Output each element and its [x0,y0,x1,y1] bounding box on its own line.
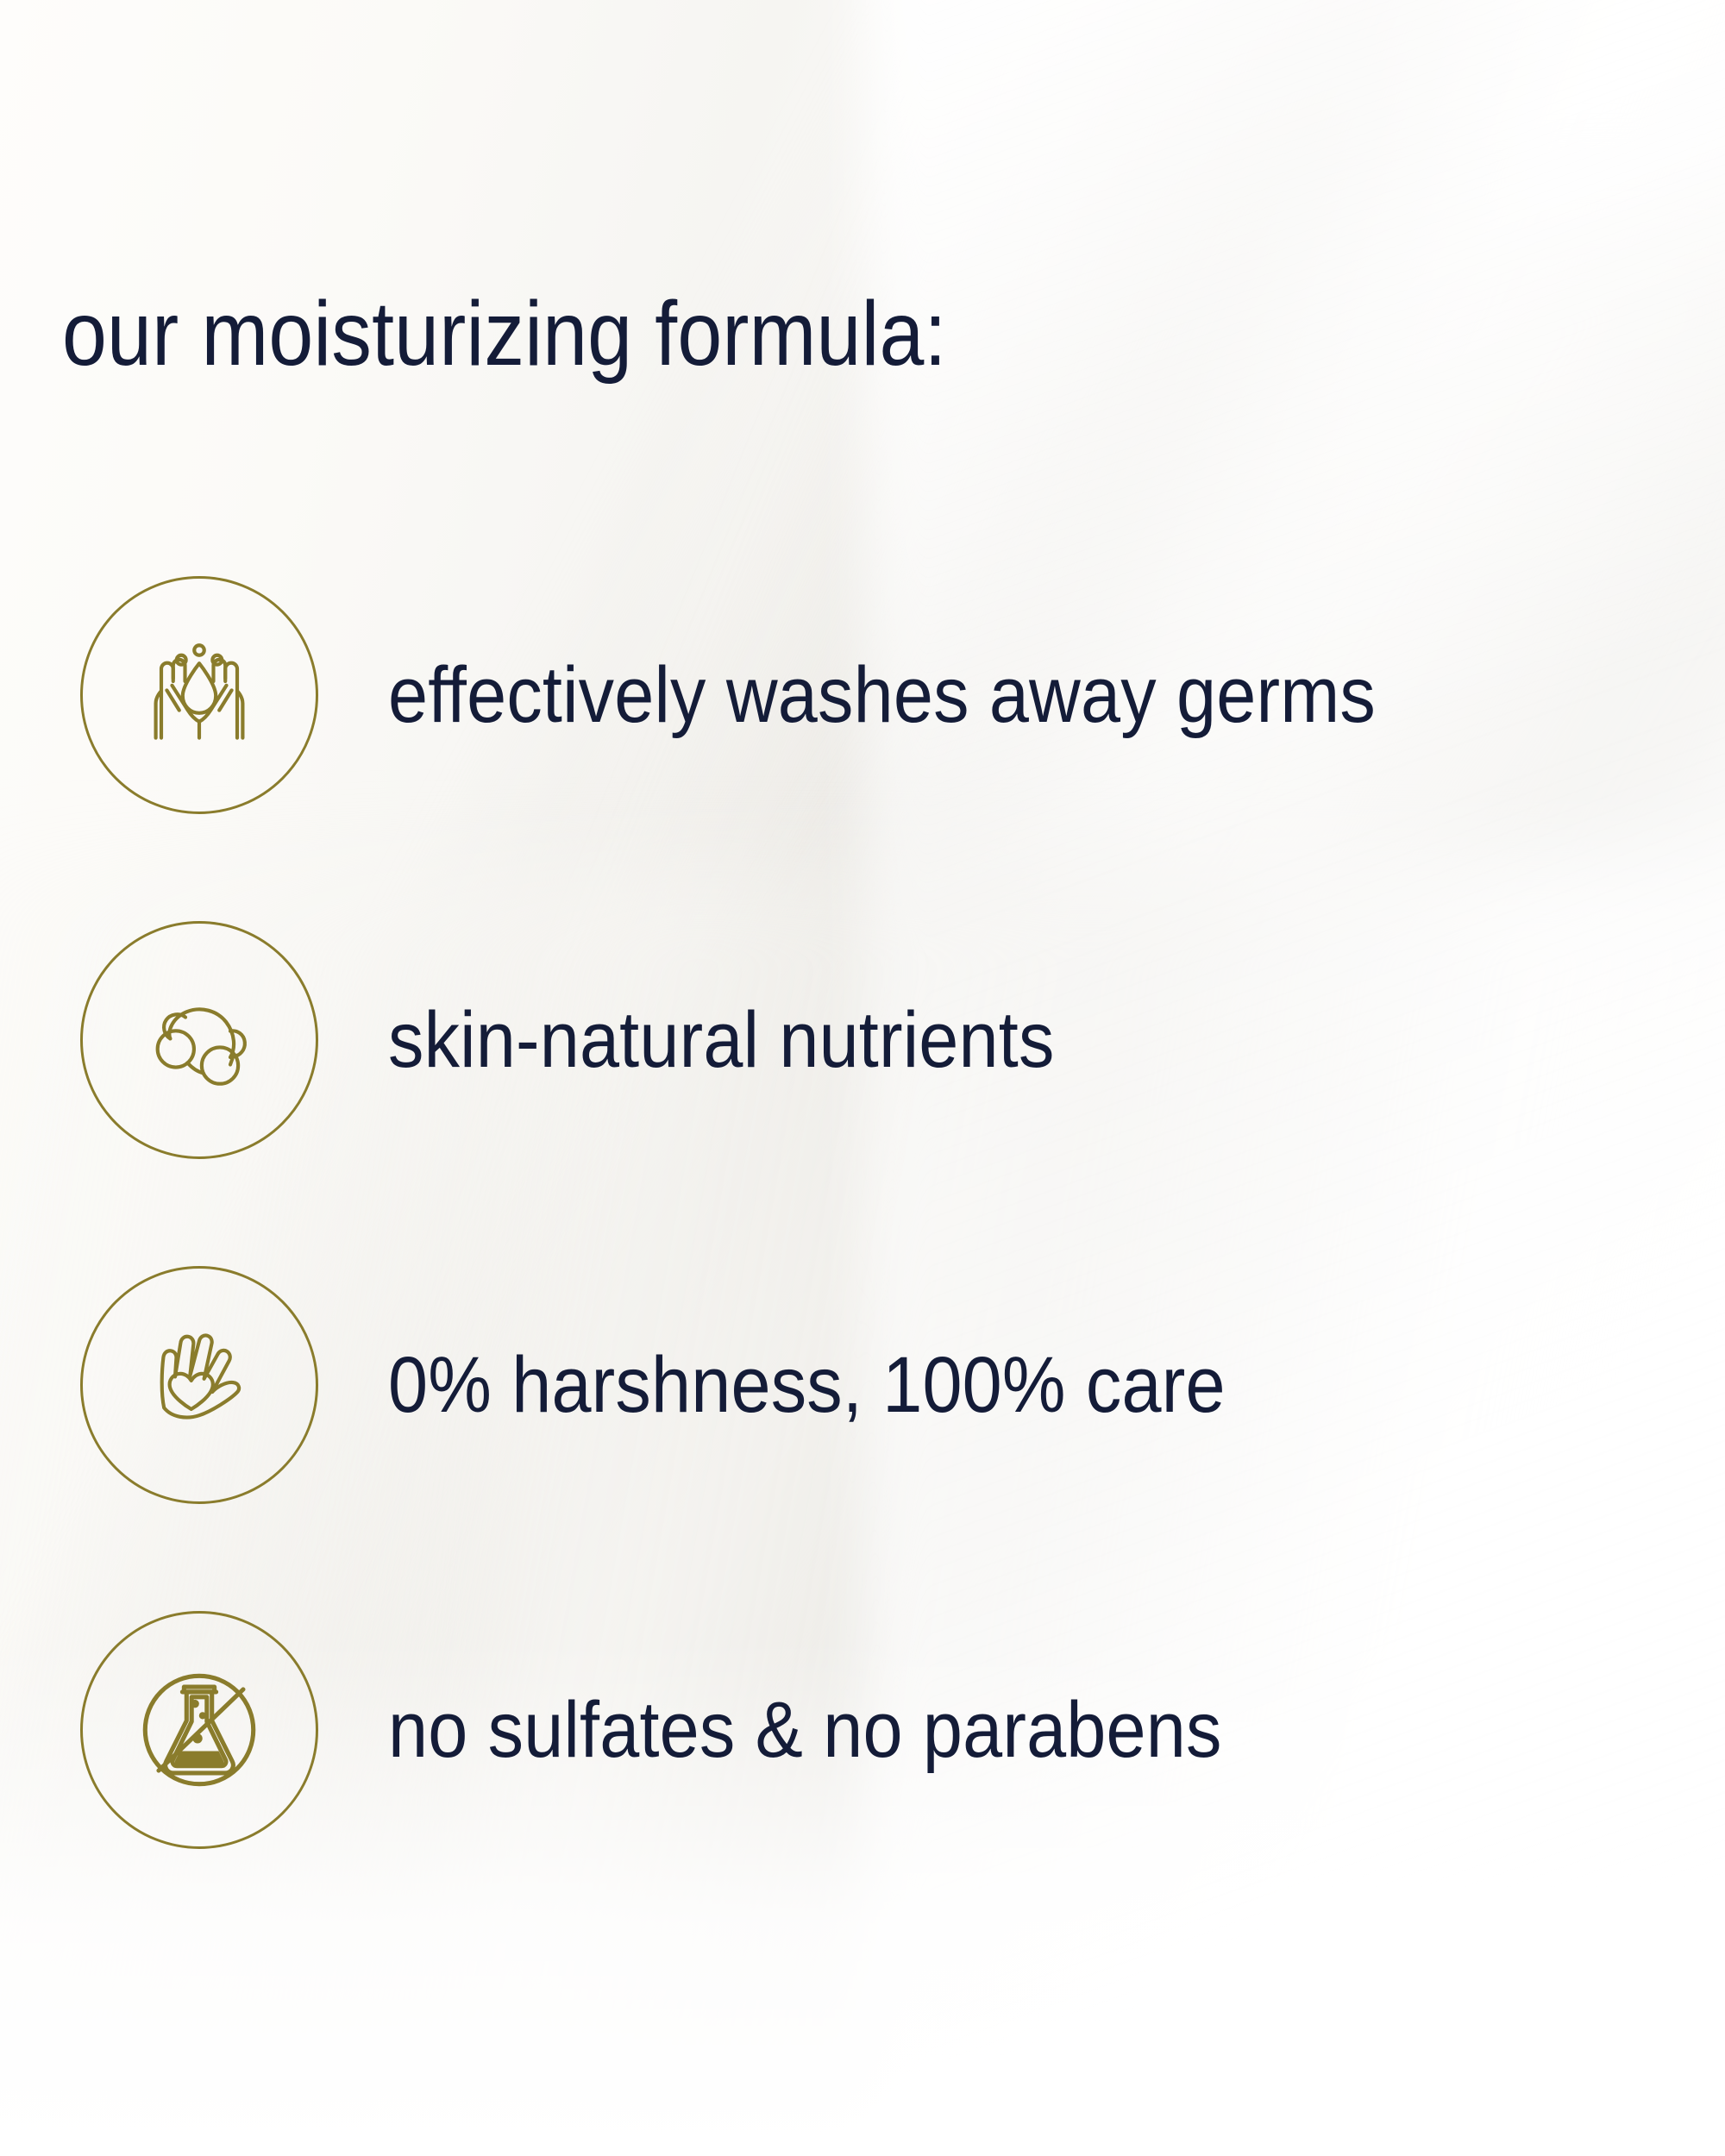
page-title: our moisturizing formula: [62,285,947,383]
badge-circle [80,1266,318,1504]
feature-label: no sulfates & no parabens [388,1690,1222,1770]
badge-circle [80,921,318,1159]
molecule-icon [130,971,268,1109]
feature-label: 0% harshness, 100% care [388,1345,1226,1425]
feature-row: effectively washes away germs [0,566,1725,824]
product-benefits-panel: our moisturizing formula: [0,0,1725,2156]
feature-row: skin-natural nutrients [0,911,1725,1169]
content-layer: our moisturizing formula: [0,0,1725,2156]
feature-row: no sulfates & no parabens [0,1601,1725,1859]
badge-circle [80,576,318,814]
no-chemicals-flask-icon [115,1645,284,1814]
feature-row: 0% harshness, 100% care [0,1256,1725,1514]
hands-holding-droplet-icon [130,626,268,764]
feature-label: effectively washes away germs [388,655,1376,735]
hand-with-heart-icon [130,1316,268,1454]
feature-label: skin-natural nutrients [388,1000,1055,1080]
badge-circle [80,1611,318,1849]
